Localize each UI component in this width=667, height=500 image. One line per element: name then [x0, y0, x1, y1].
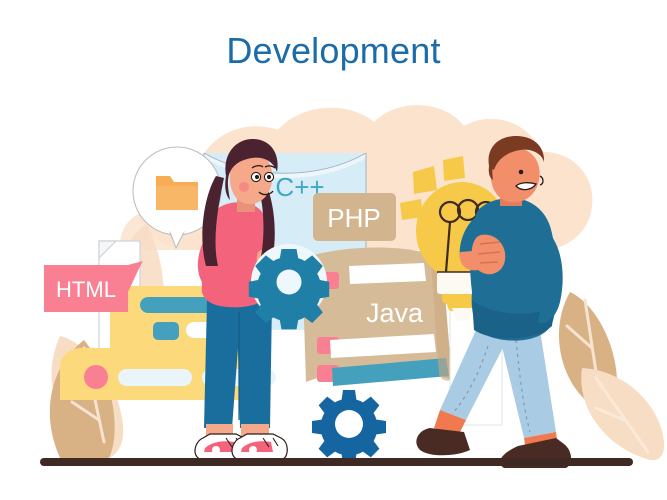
list-dot [84, 365, 108, 389]
development-illustration: C++ HTML [0, 0, 667, 500]
list-chip [153, 322, 179, 340]
illustration-stage: Development [0, 0, 667, 500]
html-label: HTML [56, 277, 116, 302]
list-bar [118, 369, 192, 386]
gear-icon [249, 244, 329, 329]
shoe [232, 434, 287, 459]
gear-icon [312, 390, 386, 464]
java-panel: Java [302, 248, 452, 387]
php-badge: PHP [313, 193, 396, 241]
php-label: PHP [327, 203, 380, 233]
ground-line [40, 458, 633, 466]
java-bar [349, 263, 426, 284]
java-label: Java [366, 298, 424, 328]
shoe [416, 428, 470, 455]
